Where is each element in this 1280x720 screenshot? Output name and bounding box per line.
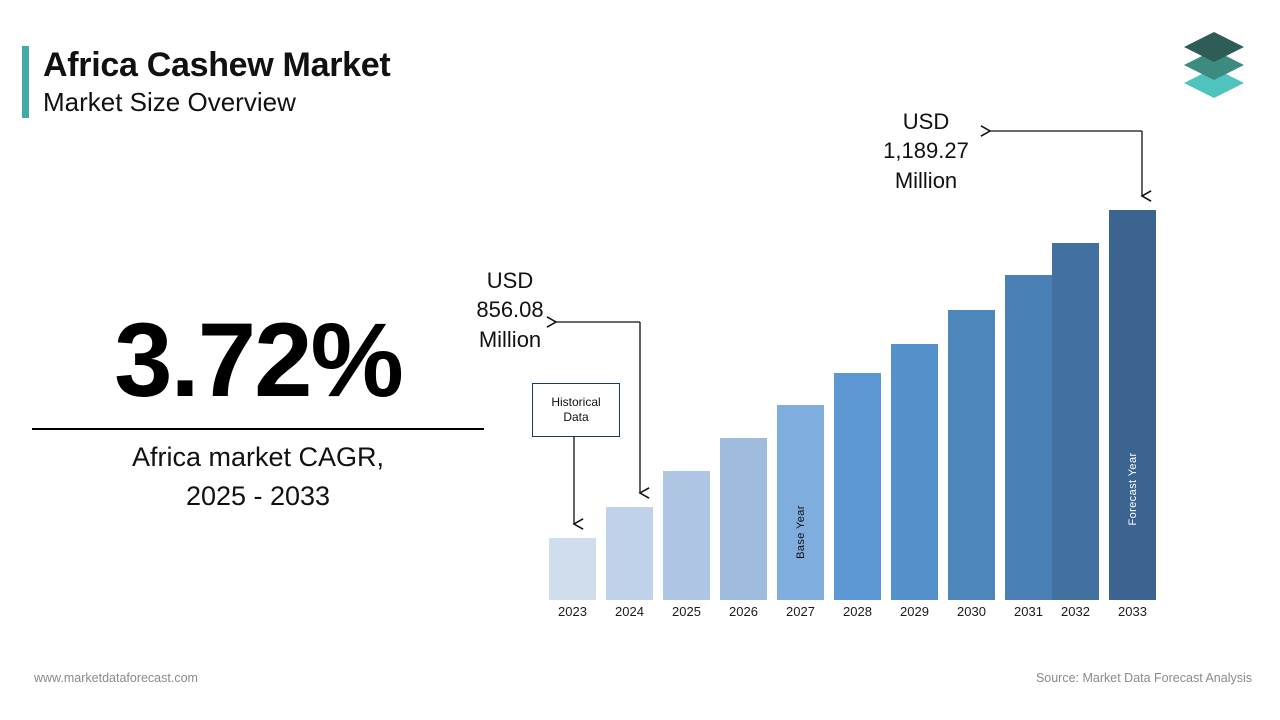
- page-subtitle: Market Size Overview: [43, 87, 390, 118]
- x-tick-2032: 2032: [1052, 604, 1099, 619]
- header: Africa Cashew Market Market Size Overvie…: [22, 46, 390, 118]
- bar-2032: [1052, 243, 1099, 600]
- cagr-divider: [32, 428, 484, 430]
- footer-source: Source: Market Data Forecast Analysis: [1036, 671, 1252, 685]
- footer-website: www.marketdataforecast.com: [34, 671, 198, 685]
- callout-start-line3: Million: [452, 325, 568, 354]
- x-tick-2025: 2025: [663, 604, 710, 619]
- cagr-value: 3.72%: [32, 306, 484, 416]
- bar-2027: Base Year: [777, 405, 824, 600]
- bar-2033: Forecast Year: [1109, 210, 1156, 600]
- callout-end-line2: 1,189.27: [868, 136, 984, 165]
- x-tick-2024: 2024: [606, 604, 653, 619]
- callout-end-line3: Million: [868, 166, 984, 195]
- cagr-caption: Africa market CAGR, 2025 - 2033: [32, 438, 484, 516]
- layers-logo-icon: [1168, 28, 1260, 102]
- bar-2030: [948, 310, 995, 600]
- title-accent-bar: [22, 46, 29, 118]
- historical-data-box: Historical Data: [532, 383, 620, 437]
- forecast-year-label: Forecast Year: [1127, 452, 1139, 525]
- bar-2025: [663, 471, 710, 600]
- page-title: Africa Cashew Market: [43, 46, 390, 84]
- callout-start-value: USD 856.08 Million: [452, 266, 568, 354]
- bar-2023: [549, 538, 596, 600]
- historical-label-line2: Data: [551, 410, 600, 425]
- bar-2026: [720, 438, 767, 600]
- x-tick-2030: 2030: [948, 604, 995, 619]
- x-tick-2026: 2026: [720, 604, 767, 619]
- callout-start-line1: USD: [452, 266, 568, 295]
- bar-2024: [606, 507, 653, 600]
- x-tick-2028: 2028: [834, 604, 881, 619]
- base-year-label: Base Year: [795, 505, 807, 559]
- historical-label-line1: Historical: [551, 395, 600, 410]
- x-tick-2027: 2027: [777, 604, 824, 619]
- cagr-caption-line1: Africa market CAGR,: [32, 438, 484, 477]
- title-block: Africa Cashew Market Market Size Overvie…: [43, 46, 390, 118]
- callout-end-line1: USD: [868, 107, 984, 136]
- callout-end-value: USD 1,189.27 Million: [868, 107, 984, 195]
- bar-2031: [1005, 275, 1052, 600]
- cagr-caption-line2: 2025 - 2033: [32, 477, 484, 516]
- callout-start-line2: 856.08: [452, 295, 568, 324]
- x-tick-2031: 2031: [1005, 604, 1052, 619]
- x-tick-2029: 2029: [891, 604, 938, 619]
- cagr-block: 3.72% Africa market CAGR, 2025 - 2033: [32, 306, 484, 517]
- bar-2029: [891, 344, 938, 600]
- x-tick-2023: 2023: [549, 604, 596, 619]
- x-tick-2033: 2033: [1109, 604, 1156, 619]
- bar-2028: [834, 373, 881, 600]
